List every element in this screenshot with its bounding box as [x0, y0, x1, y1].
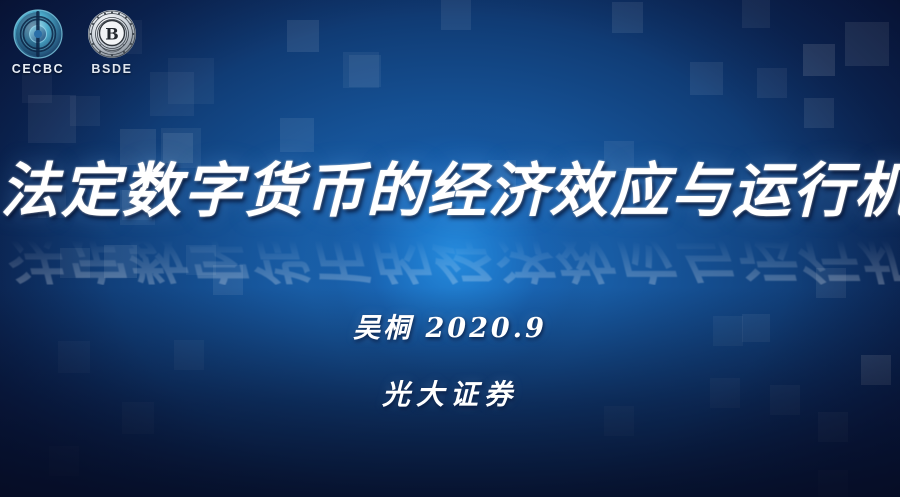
subtitle-block: 吴桐 2020.9 光大证券: [0, 306, 900, 413]
author-and-date: 吴桐 2020.9: [0, 306, 900, 345]
logo-label-cecbc: CECBC: [12, 62, 64, 76]
svg-text:B: B: [105, 25, 119, 44]
bsde-emblem-icon: B: [86, 8, 138, 60]
logo-cecbc: CECBC: [8, 8, 68, 76]
title-block: 法定数字货币的经济效应与运行机制 法定数字货币的经济效应与运行机制: [0, 160, 900, 285]
slide-title: 法定数字货币的经济效应与运行机制: [0, 160, 900, 222]
title-slide: CECBC: [0, 0, 900, 497]
logo-group: CECBC: [8, 8, 142, 76]
cecbc-emblem-icon: [12, 8, 64, 60]
organization-name: 光大证券: [0, 373, 900, 413]
logo-bsde: B BSDE: [82, 8, 142, 76]
slide-title-reflection: 法定数字货币的经济效应与运行机制: [0, 223, 900, 285]
logo-label-bsde: BSDE: [91, 62, 132, 76]
